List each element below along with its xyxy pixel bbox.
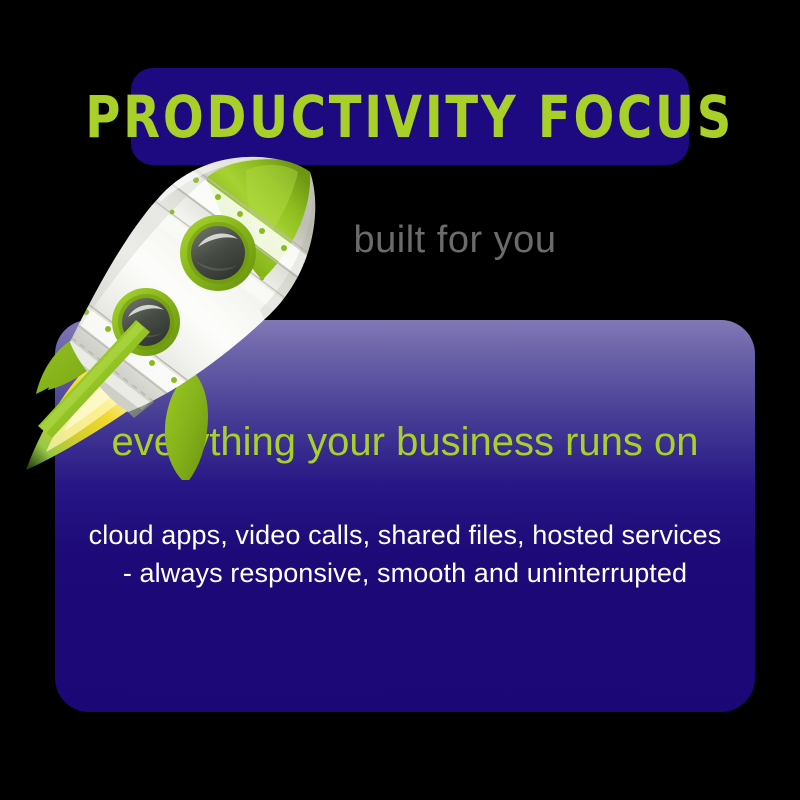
band-2 [138,196,312,332]
card-body-text: cloud apps, video calls, shared files, h… [85,516,725,593]
banner-canvas: PRODUCTIVITY FOCUS built for you everyth… [0,0,800,800]
main-content-card: everything your business runs on cloud a… [55,320,755,712]
subtitle-text: built for you [0,219,800,262]
card-inner: everything your business runs on cloud a… [55,320,755,712]
title-banner: PRODUCTIVITY FOCUS [131,68,689,165]
page-title: PRODUCTIVITY FOCUS [86,88,735,146]
card-headline: everything your business runs on [55,420,755,464]
